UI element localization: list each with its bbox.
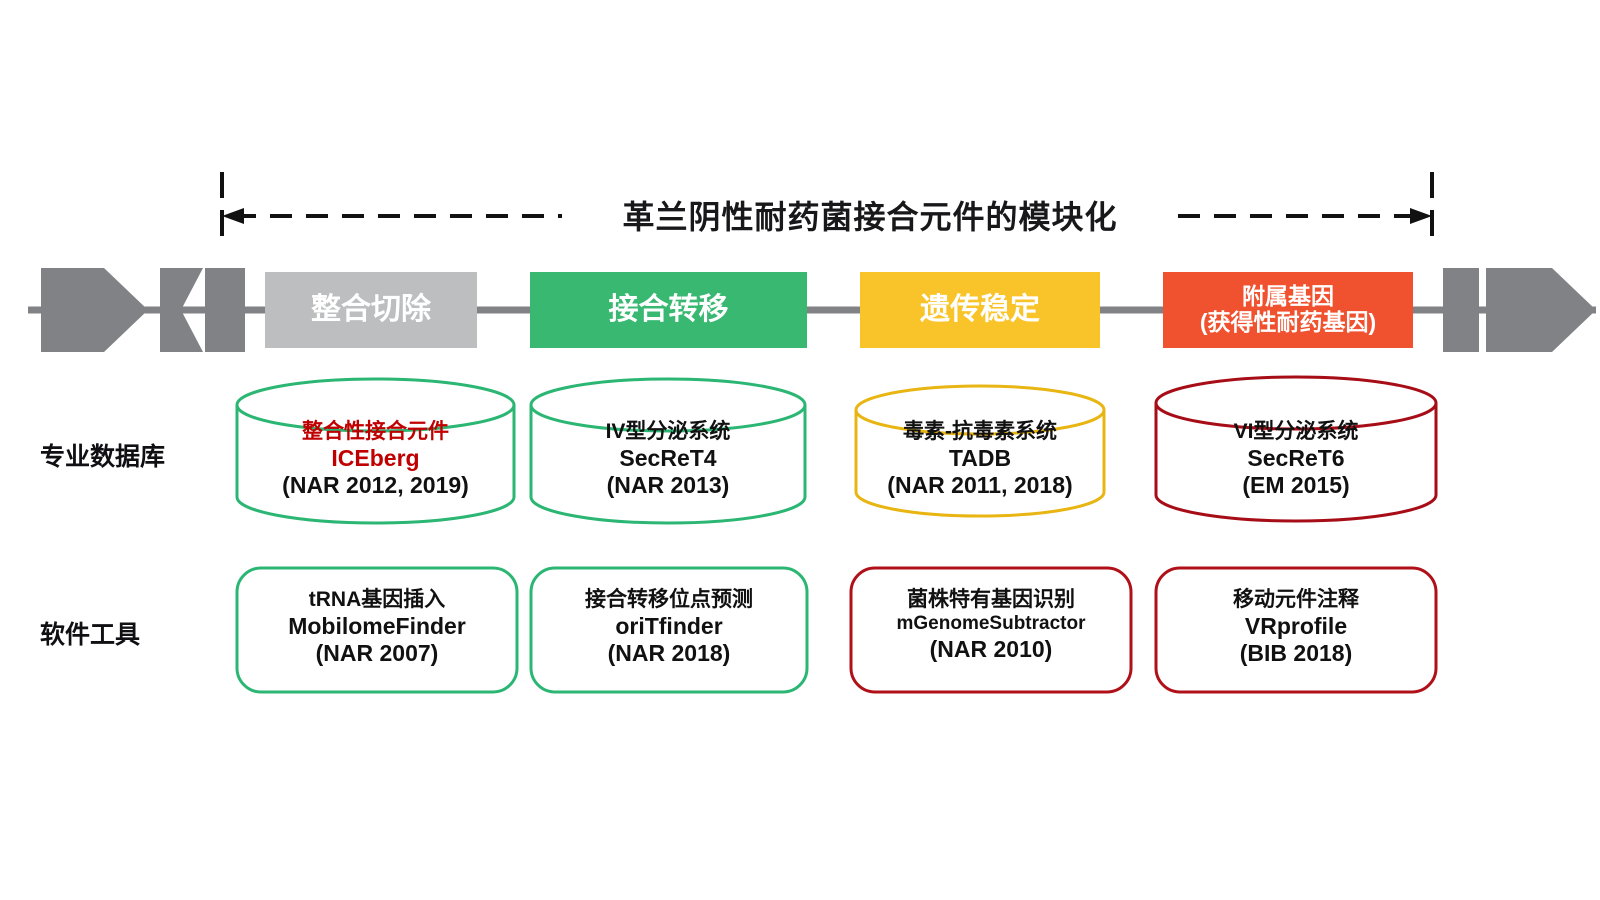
cylinder-tadb <box>856 386 1104 516</box>
module-block-stability[interactable]: 遗传稳定 <box>860 272 1100 348</box>
right-gene-arrow-right-icon <box>1486 268 1596 352</box>
diagram-title: 革兰阴性耐药菌接合元件的模块化 <box>590 192 1150 238</box>
cylinder-secret4 <box>531 379 805 523</box>
module-label-cargo-1: (获得性耐药基因) <box>1200 310 1376 336</box>
diagram-graphics <box>0 0 1600 900</box>
module-label-conjugation-0: 接合转移 <box>609 293 729 327</box>
tool-boxes <box>237 568 1436 692</box>
toolbox-vrprofile <box>1156 568 1436 692</box>
database-cylinders <box>237 377 1436 523</box>
module-label-cargo-0: 附属基因 <box>1200 284 1376 310</box>
module-block-integration[interactable]: 整合切除 <box>265 272 477 348</box>
left-gene-arrow-right-icon <box>41 268 148 352</box>
diagram-canvas: 革兰阴性耐药菌接合元件的模块化 整合切除接合转移遗传稳定附属基因(获得性耐药基因… <box>0 0 1600 900</box>
row-label-tools: 软件工具 <box>40 615 230 651</box>
cylinder-iceberg <box>237 379 514 523</box>
row-label-databases: 专业数据库 <box>40 437 230 473</box>
range-arrowhead-left <box>222 208 244 224</box>
right-gene-block-icon <box>1443 268 1479 352</box>
toolbox-oritfinder <box>531 568 807 692</box>
module-label-stability-0: 遗传稳定 <box>920 293 1040 327</box>
module-block-conjugation[interactable]: 接合转移 <box>530 272 807 348</box>
toolbox-mobilomefinder <box>237 568 517 692</box>
module-block-cargo[interactable]: 附属基因(获得性耐药基因) <box>1163 272 1413 348</box>
range-arrowhead-right <box>1410 208 1432 224</box>
left-gene-block-icon <box>205 268 245 352</box>
cylinder-secret6 <box>1156 377 1436 521</box>
module-label-integration-0: 整合切除 <box>311 293 431 327</box>
toolbox-mgenomesubtractor <box>851 568 1131 692</box>
